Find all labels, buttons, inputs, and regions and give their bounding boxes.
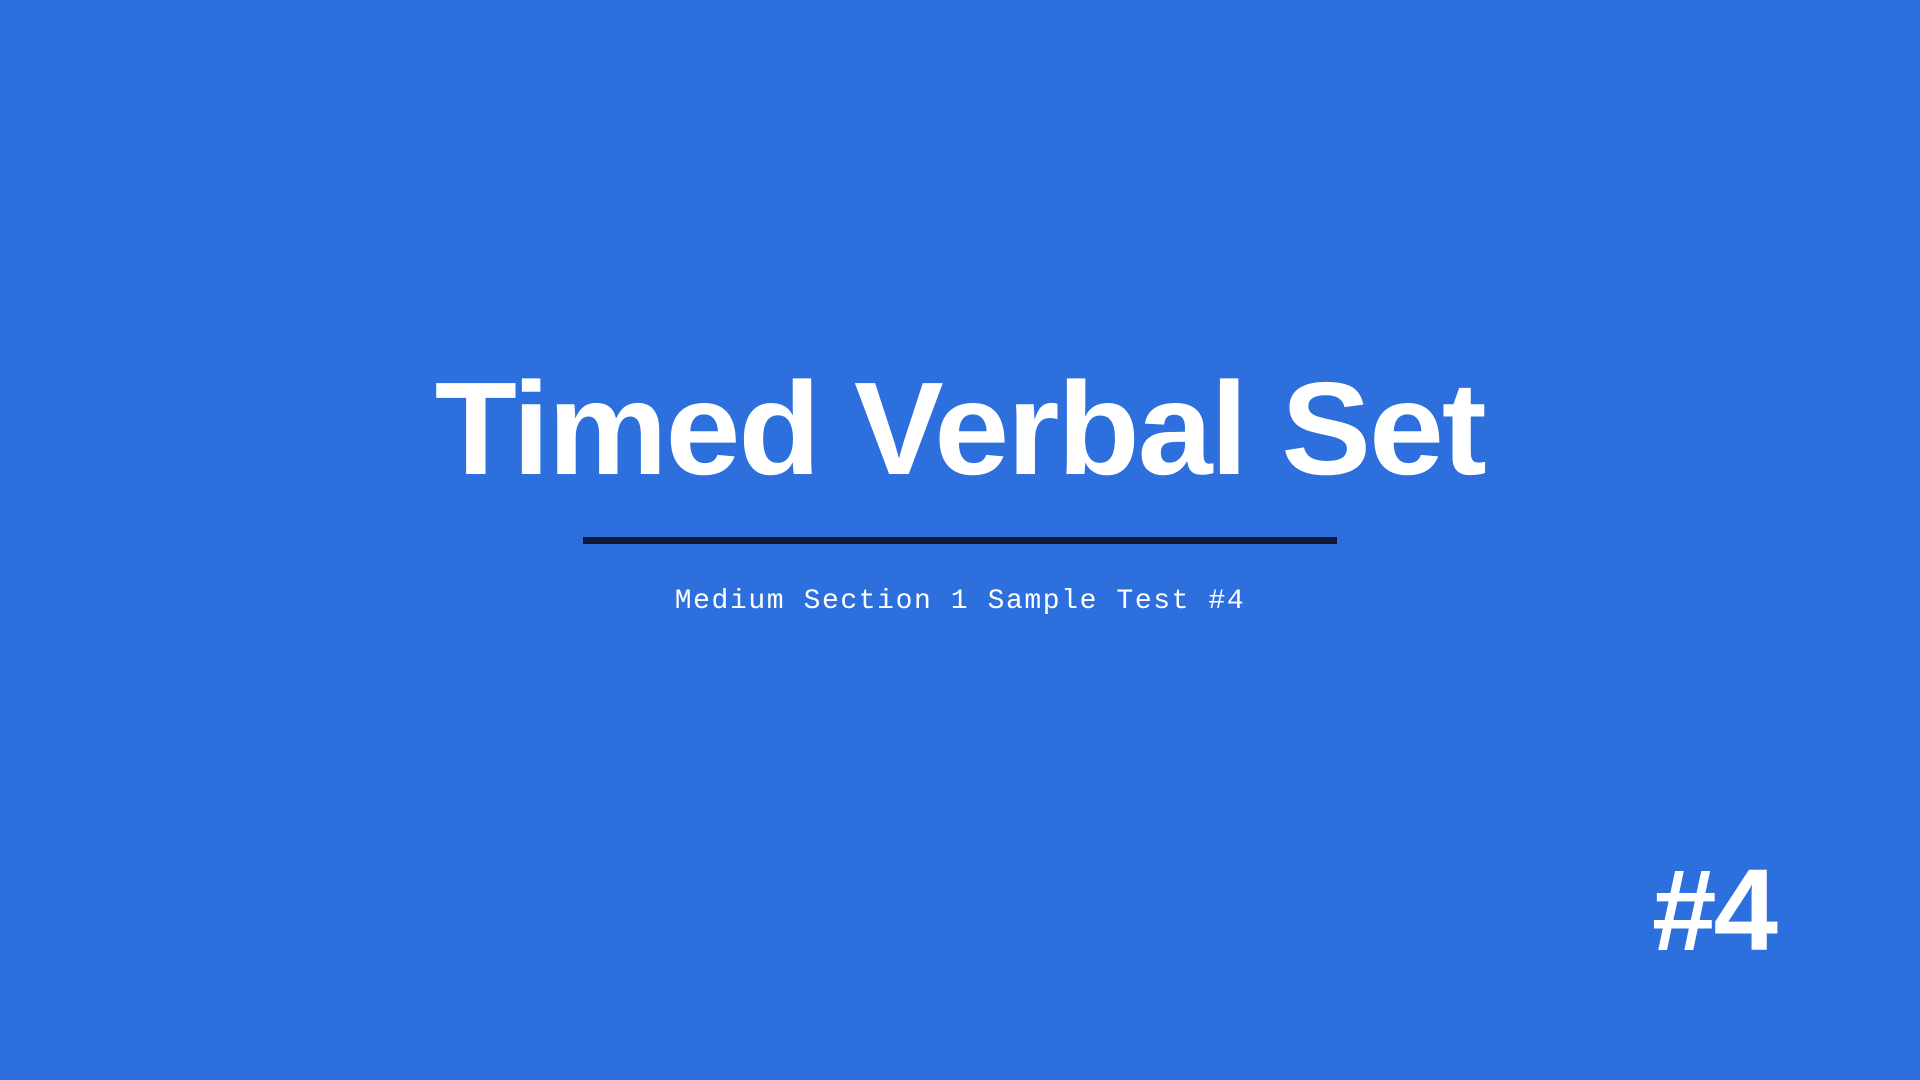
title-slide: Timed Verbal Set Medium Section 1 Sample… bbox=[0, 0, 1920, 1080]
slide-subtitle: Medium Section 1 Sample Test #4 bbox=[675, 544, 1246, 617]
title-divider bbox=[583, 537, 1337, 544]
slide-number-badge: #4 bbox=[1652, 863, 1775, 958]
slide-hero-block: Timed Verbal Set Medium Section 1 Sample… bbox=[0, 0, 1920, 1080]
page-title: Timed Verbal Set bbox=[435, 363, 1485, 495]
